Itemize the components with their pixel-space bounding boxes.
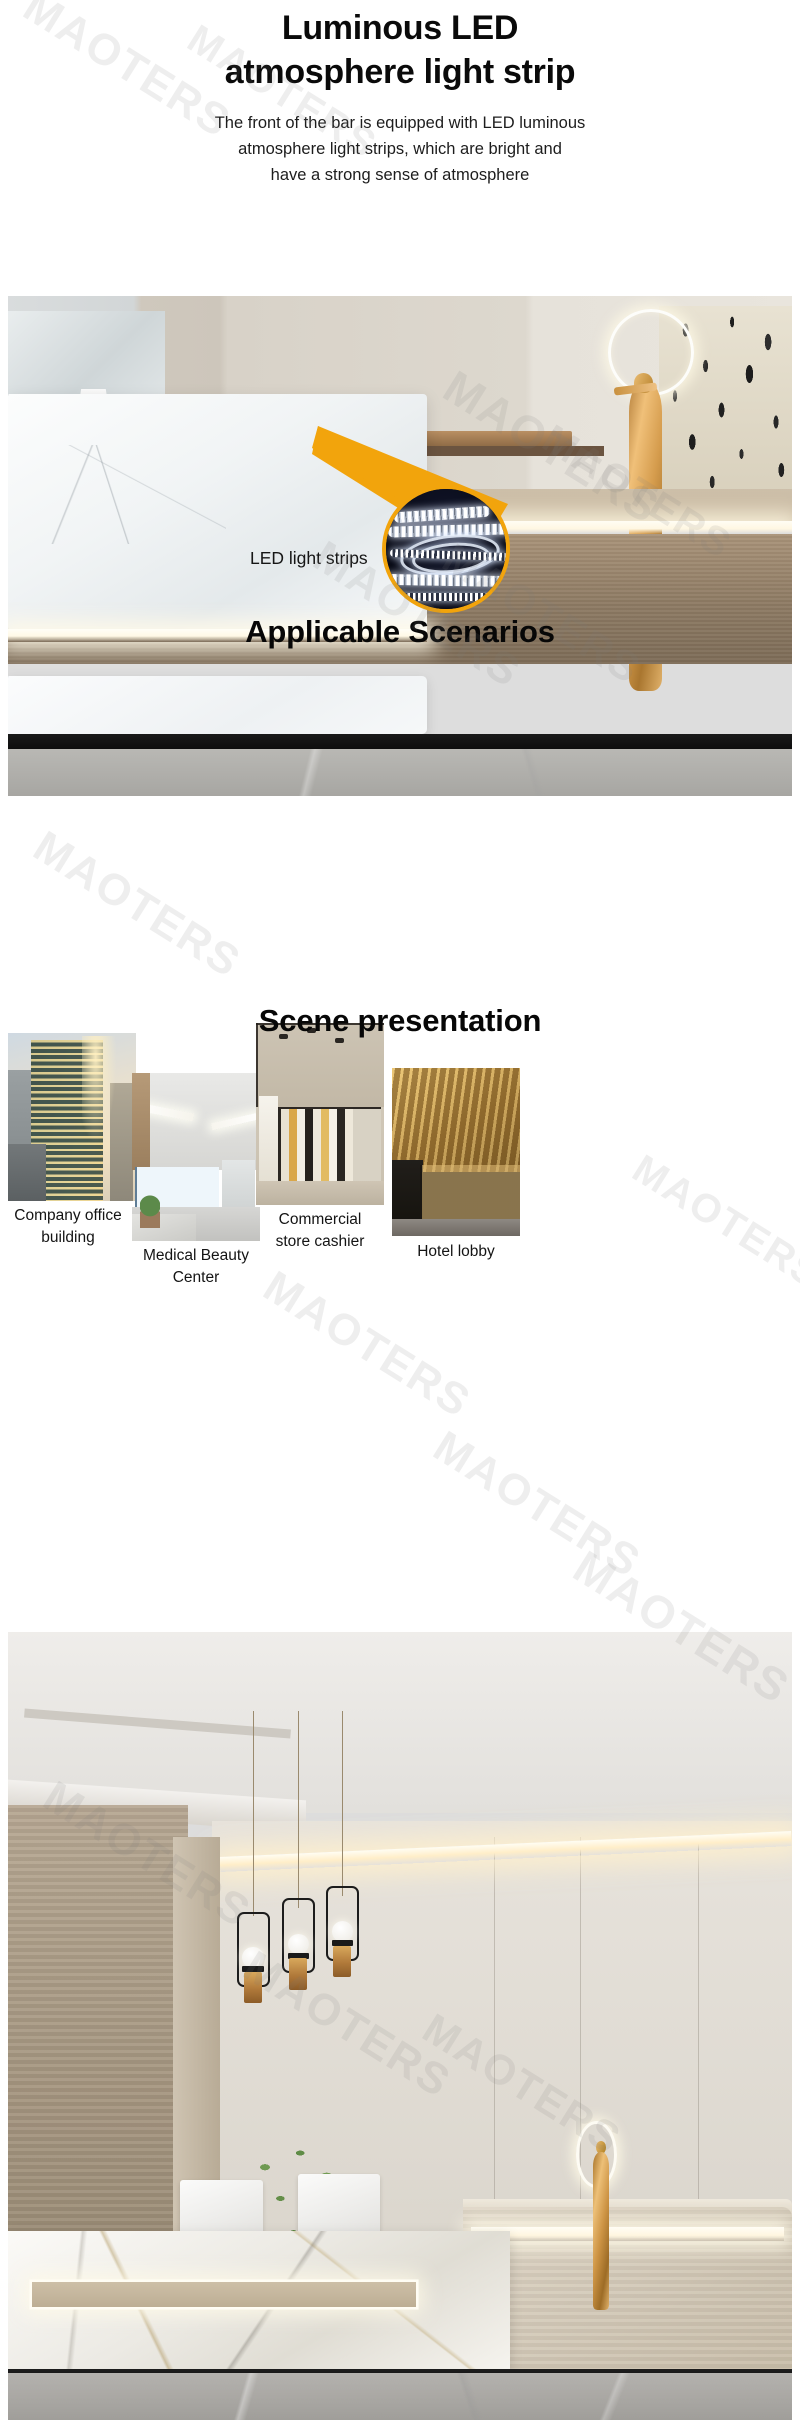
scene-pendant-cord bbox=[253, 1711, 254, 1916]
sc1-foreground-building bbox=[8, 1144, 46, 1201]
scenario-thumb-hotel-lobby bbox=[392, 1068, 520, 1236]
scene-presentation-photo bbox=[8, 1632, 792, 2420]
scene-floor bbox=[8, 2373, 792, 2420]
scenario-caption-3-line-2: store cashier bbox=[250, 1231, 390, 1253]
sc4-dark-interior bbox=[392, 1160, 423, 1220]
scenario-caption-4: Hotel lobby bbox=[386, 1241, 526, 1263]
page-title: Luminous LED atmosphere light strip bbox=[0, 6, 800, 94]
led-light-strips-label: LED light strips bbox=[250, 548, 368, 569]
scene-wall-seam bbox=[698, 1837, 699, 2231]
sc4-glass-facade bbox=[420, 1165, 520, 1222]
magnifier-content bbox=[386, 489, 506, 609]
scene-monitor bbox=[298, 2174, 380, 2235]
scenario-caption-2-line-2: Center bbox=[124, 1267, 268, 1289]
scene-pendant-body bbox=[244, 1972, 262, 2004]
subtitle-line-3: have a strong sense of atmosphere bbox=[0, 162, 800, 188]
scene-pendant-body bbox=[333, 1946, 351, 1978]
scene-pendant-body bbox=[289, 1958, 307, 1990]
scene-wood-wall-left bbox=[8, 1805, 188, 2246]
scene-monitor bbox=[180, 2180, 262, 2239]
watermark: MAOTERS bbox=[255, 1262, 480, 1428]
watermark: MAOTERS bbox=[425, 1422, 650, 1588]
sc2-wood-wall bbox=[132, 1073, 150, 1170]
sc2-side-wall bbox=[222, 1160, 255, 1210]
page-title-line-2: atmosphere light strip bbox=[0, 50, 800, 94]
hero-lower-marble-panel bbox=[8, 676, 427, 734]
scenario-thumb-medical-beauty-center bbox=[132, 1073, 260, 1241]
scenario-thumb-commercial-store-cashier bbox=[256, 1023, 384, 1205]
scene-led-strip-right bbox=[471, 2227, 785, 2241]
scenario-caption-2-line-1: Medical Beauty bbox=[124, 1245, 268, 1267]
hero-marble-veins bbox=[16, 445, 226, 544]
sc1-sunlight-glow bbox=[82, 1036, 115, 1140]
hero-floor bbox=[8, 749, 792, 797]
watermark: MAOTERS bbox=[25, 822, 250, 988]
scene-presentation-heading: Scene presentation bbox=[0, 1003, 800, 1039]
scene-pendant-globe bbox=[242, 1947, 263, 1967]
led-strip-magnifier bbox=[382, 485, 510, 613]
sc2-potted-plant bbox=[140, 1194, 160, 1228]
scene-gold-figurine bbox=[593, 2152, 609, 2310]
sc3-hanging-garments bbox=[264, 1109, 382, 1182]
watermark: MAOTERS bbox=[624, 1147, 800, 1299]
scenario-caption-1-line-1: Company office bbox=[0, 1205, 136, 1227]
scenario-caption-2: Medical Beauty Center bbox=[124, 1245, 268, 1289]
scenario-caption-1: Company office building bbox=[0, 1205, 136, 1249]
subtitle-line-2: atmosphere light strips, which are brigh… bbox=[0, 136, 800, 162]
scenario-caption-3: Commercial store cashier bbox=[250, 1209, 390, 1253]
subtitle-line-1: The front of the bar is equipped with LE… bbox=[0, 110, 800, 136]
sc3-floor bbox=[256, 1181, 384, 1205]
scene-pendant-globe bbox=[332, 1921, 353, 1941]
scenario-thumb-company-office-building bbox=[8, 1033, 136, 1201]
scenario-caption-3-line-1: Commercial bbox=[250, 1209, 390, 1231]
scene-wall-seam bbox=[494, 1837, 495, 2231]
scenario-caption-4-line-1: Hotel lobby bbox=[386, 1241, 526, 1263]
led-strip-segment bbox=[386, 574, 510, 587]
sc4-ground bbox=[392, 1219, 520, 1236]
page-subtitle: The front of the bar is equipped with LE… bbox=[0, 110, 800, 188]
led-strip-dots bbox=[392, 593, 508, 601]
scene-desk-led-recess bbox=[32, 2282, 416, 2307]
sc4-gold-ceiling bbox=[392, 1068, 520, 1172]
scene-pendant-cord bbox=[342, 1711, 343, 1896]
scene-pendant-cord bbox=[298, 1711, 299, 1908]
scenario-caption-1-line-2: building bbox=[0, 1227, 136, 1249]
sc3-long-coat bbox=[259, 1096, 278, 1187]
page-title-line-1: Luminous LED bbox=[0, 6, 800, 50]
applicable-scenarios-heading: Applicable Scenarios bbox=[0, 614, 800, 650]
